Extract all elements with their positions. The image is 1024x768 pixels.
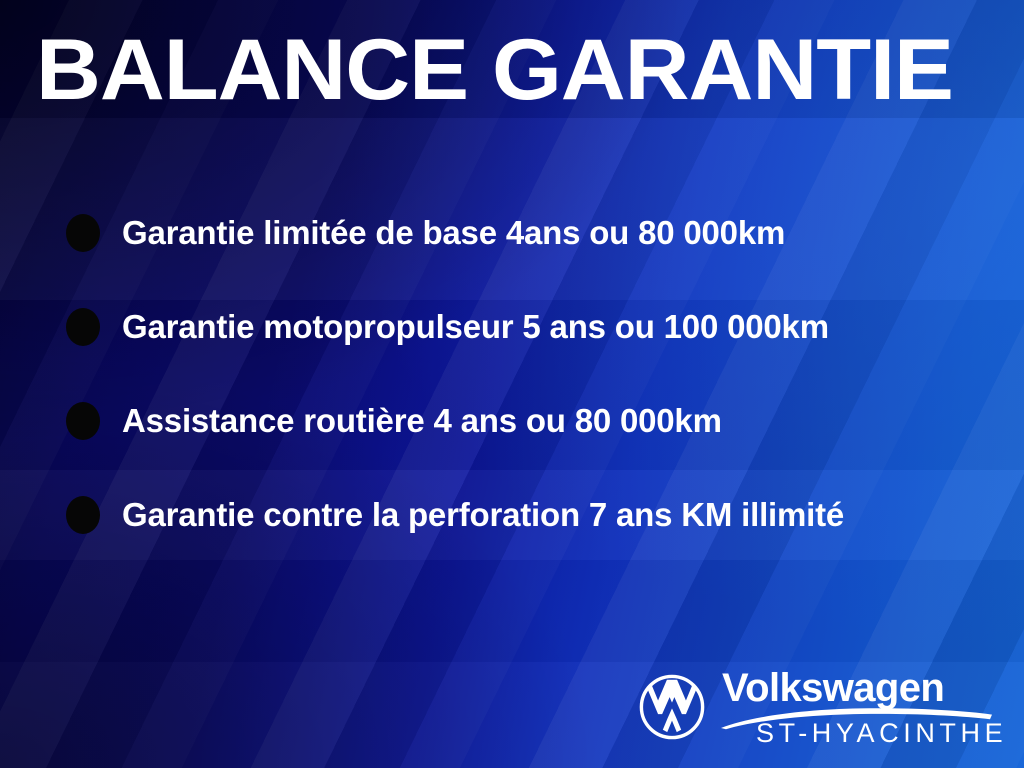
list-item: Garantie motopropulseur 5 ans ou 100 000… — [66, 280, 1016, 374]
brand-wordmark: Volkswagen — [722, 668, 944, 708]
bullet-dot-icon — [66, 214, 100, 252]
list-item: Assistance routière 4 ans ou 80 000km — [66, 374, 1016, 468]
bullet-dot-icon — [66, 308, 100, 346]
promo-slide: BALANCE GARANTIE Garantie limitée de bas… — [0, 0, 1024, 768]
page-title: BALANCE GARANTIE — [36, 27, 953, 113]
list-item-label: Garantie contre la perforation 7 ans KM … — [122, 497, 844, 533]
warranty-list: Garantie limitée de base 4ans ou 80 000k… — [66, 186, 1016, 562]
list-item: Garantie contre la perforation 7 ans KM … — [66, 468, 1016, 562]
list-item-label: Garantie motopropulseur 5 ans ou 100 000… — [122, 309, 829, 345]
vw-roundel-icon — [638, 673, 706, 741]
dealer-name: ST-HYACINTHE — [756, 720, 1007, 747]
list-item-label: Assistance routière 4 ans ou 80 000km — [122, 403, 722, 439]
dealer-logo-lockup: Volkswagen ST-HYACINTHE — [638, 670, 1008, 762]
list-item-label: Garantie limitée de base 4ans ou 80 000k… — [122, 215, 785, 251]
bullet-dot-icon — [66, 496, 100, 534]
list-item: Garantie limitée de base 4ans ou 80 000k… — [66, 186, 1016, 280]
bullet-dot-icon — [66, 402, 100, 440]
